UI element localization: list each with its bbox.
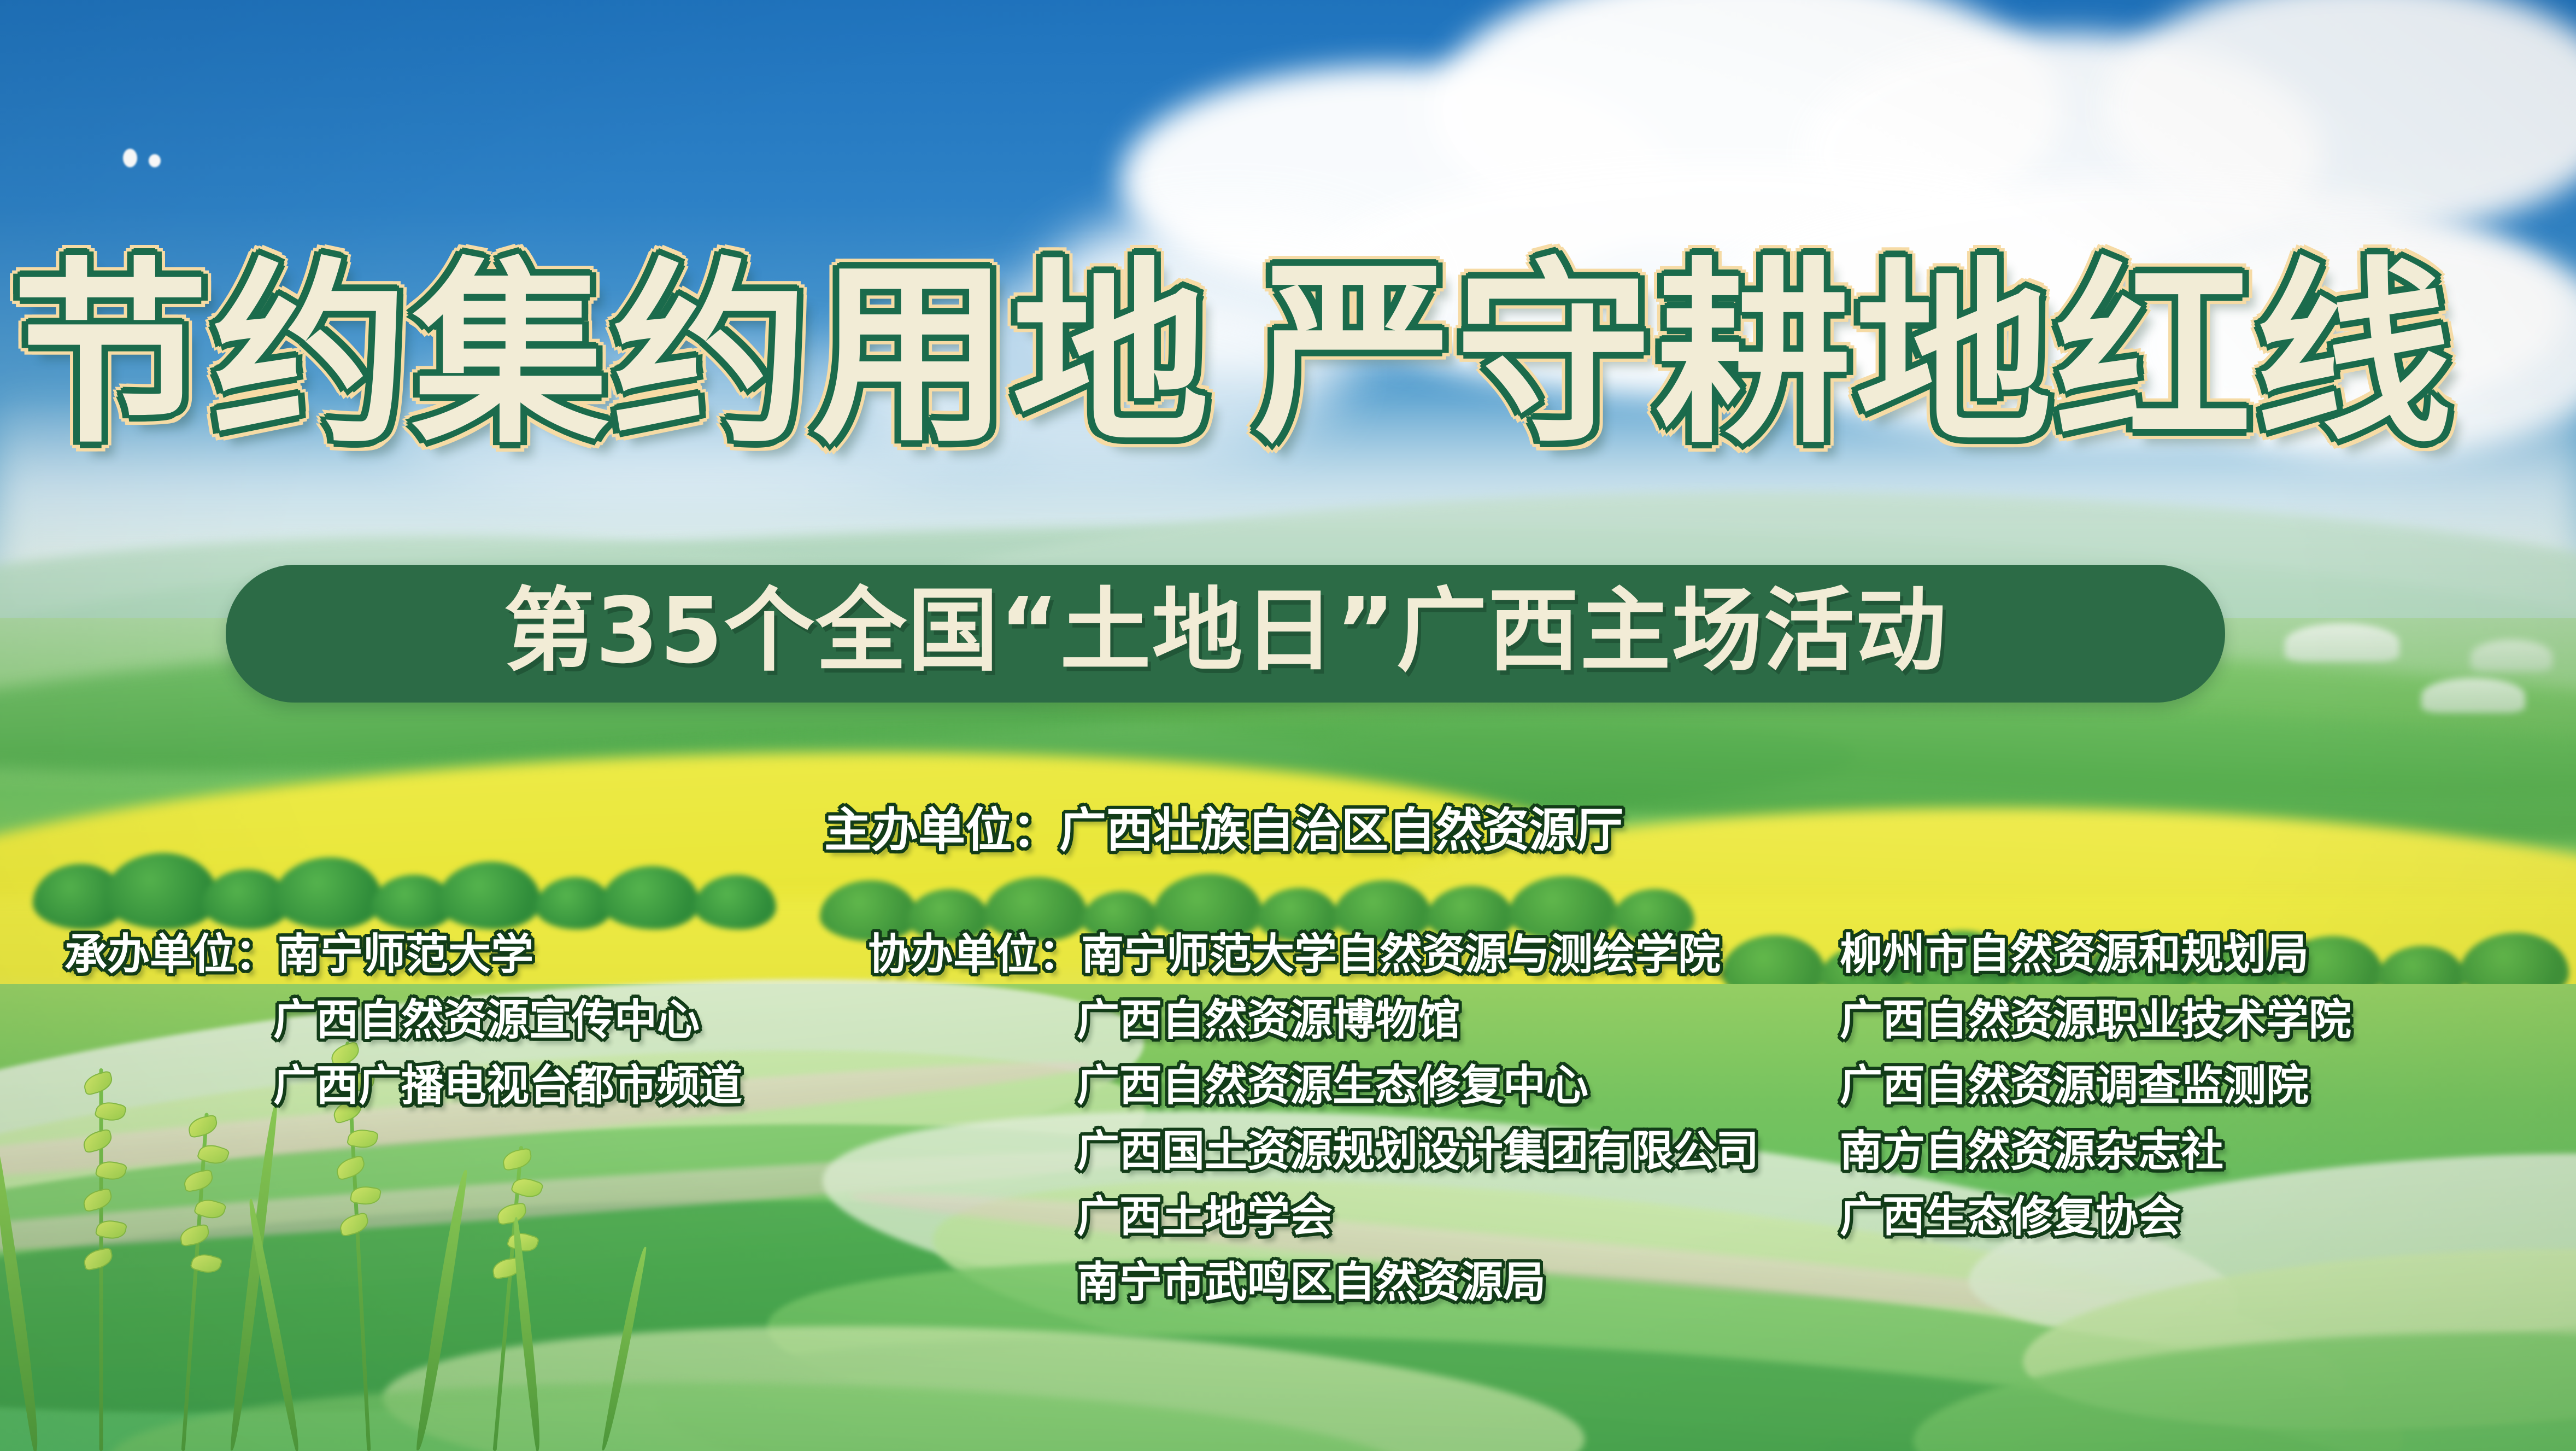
co-organizers-first-line: 协办单位：南宁师范大学自然资源与测绘学院 [868, 922, 1759, 987]
wheat-stalk-icon [82, 1068, 120, 1451]
birds-icon [149, 154, 161, 167]
co-organizers-right-item-row: 广西自然资源职业技术学院 [1840, 987, 2351, 1053]
main-title-part2: 严守耕地红线 [1255, 241, 2455, 470]
co-organizers-item-row: 南宁市武鸣区自然资源局 [868, 1250, 1759, 1315]
subtitle-banner: 第35个全国“土地日”广西主场活动 [226, 565, 2225, 703]
co-organizers-column: 协办单位：南宁师范大学自然资源与测绘学院 广西自然资源博物馆 广西自然资源生态修… [868, 922, 1759, 1315]
co-organizers-item-row: 广西自然资源生态修复中心 [868, 1053, 1759, 1119]
host-organization-line: 主办单位：广西壮族自治区自然资源厅 [824, 807, 1623, 854]
co-organizers-item-row: 广西自然资源博物馆 [868, 987, 1759, 1053]
organizers-column: 承办单位：南宁师范大学 广西自然资源宣传中心 广西广播电视台都市频道 [64, 922, 742, 1119]
poster-canvas: 节约集约用地严守耕地红线 第35个全国“土地日”广西主场活动 主办单位：广西壮族… [0, 0, 2576, 1451]
village-cluster [2285, 623, 2399, 662]
co-organizers-right-item-row: 柳州市自然资源和规划局 [1840, 922, 2351, 987]
co-organizers-item-0: 南宁师范大学自然资源与测绘学院 [1081, 930, 1721, 979]
organizers-item-row: 广西自然资源宣传中心 [64, 987, 742, 1053]
organizers-label: 承办单位： [64, 930, 278, 979]
subtitle-text: 第35个全国“土地日”广西主场活动 [503, 586, 1947, 677]
co-organizers-right-item-row: 广西自然资源调查监测院 [1840, 1053, 2351, 1119]
main-title: 节约集约用地严守耕地红线 [0, 257, 2576, 541]
co-organizers-right-item-row: 南方自然资源杂志社 [1840, 1119, 2351, 1184]
co-organizers-label: 协办单位： [868, 930, 1081, 979]
main-title-part1: 节约集约用地 [12, 241, 1212, 470]
village-cluster [2471, 640, 2552, 671]
co-organizers-item-row: 广西国土资源规划设计集团有限公司 [868, 1119, 1759, 1184]
organizers-first-line: 承办单位：南宁师范大学 [64, 922, 742, 987]
co-organizers-right-column: 柳州市自然资源和规划局 广西自然资源职业技术学院 广西自然资源调查监测院 南方自… [1840, 922, 2351, 1250]
birds-icon [123, 149, 137, 167]
organizers-item-0: 南宁师范大学 [278, 930, 533, 979]
co-organizers-right-item-row: 广西生态修复协会 [1840, 1184, 2351, 1250]
village-cluster [2421, 678, 2525, 713]
tree-line [22, 853, 842, 929]
organizers-item-row: 广西广播电视台都市频道 [64, 1053, 742, 1119]
co-organizers-item-row: 广西土地学会 [868, 1184, 1759, 1250]
